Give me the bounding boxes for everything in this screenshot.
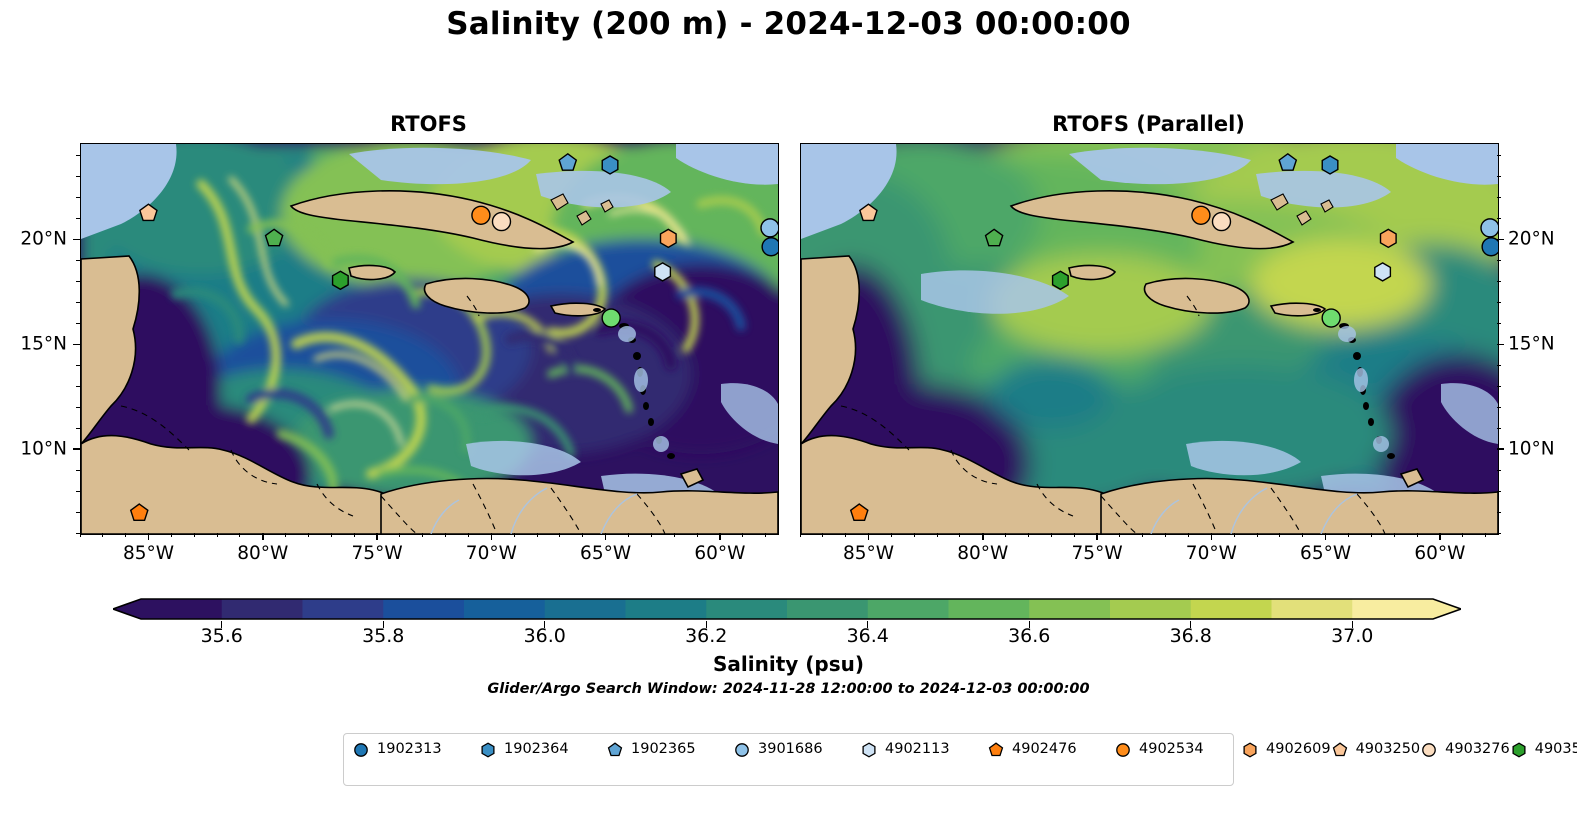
x-ticklabel: 85°W <box>843 543 894 564</box>
colorbar-band <box>1352 599 1433 619</box>
colorbar-band <box>141 599 222 619</box>
x-minor-tick <box>1119 533 1120 537</box>
x-ticklabel: 60°W <box>694 543 745 564</box>
x-minor-tick <box>582 533 583 537</box>
y-tick <box>73 344 80 345</box>
x-minor-tick <box>239 533 240 537</box>
float-marker-4903250[interactable] <box>860 204 877 220</box>
legend-entry-4902476[interactable]: 4902476 <box>987 739 1114 760</box>
x-ticklabel: 75°W <box>352 543 403 564</box>
x-minor-tick <box>1462 533 1463 537</box>
float-marker-4903250[interactable] <box>140 204 157 220</box>
colorbar-ticklabel: 35.6 <box>201 625 243 647</box>
x-minor-tick <box>468 533 469 537</box>
float-marker-4903558[interactable] <box>333 271 349 289</box>
x-minor-tick <box>331 533 332 537</box>
colorbar-extend-max <box>1433 599 1461 619</box>
y-minor-tick <box>1497 386 1501 387</box>
page-title: Salinity (200 m) - 2024-12-03 00:00:00 <box>0 6 1577 42</box>
y-minor-tick <box>76 218 80 219</box>
y-minor-tick <box>76 533 80 534</box>
float-marker-4903563[interactable] <box>986 229 1003 245</box>
legend-marker-circle-icon <box>1420 741 1438 759</box>
float-markers-rtofs-parallel[interactable] <box>801 144 1498 534</box>
legend-entry-1902364[interactable]: 1902364 <box>479 739 606 760</box>
legend-label: 4903250 <box>1356 742 1421 757</box>
y-minor-tick <box>76 260 80 261</box>
figure-canvas: Salinity (200 m) - 2024-12-03 00:00:00 R… <box>0 0 1577 827</box>
x-minor-tick <box>891 533 892 537</box>
y-minor-tick <box>1497 491 1501 492</box>
legend-marker-hexagon-icon <box>860 741 878 759</box>
colorbar-tick <box>383 621 384 628</box>
legend-entry-4903250[interactable]: 4903250 <box>1331 739 1421 760</box>
colorbar-tick <box>1190 621 1191 628</box>
y-ticklabel: 15°N <box>0 334 67 355</box>
y-minor-tick <box>1497 533 1501 534</box>
y-minor-tick <box>76 386 80 387</box>
legend-entry-1902313[interactable]: 1902313 <box>352 739 479 760</box>
float-marker-4902609[interactable] <box>661 229 677 247</box>
float-marker-3901686[interactable] <box>761 219 778 237</box>
y-ticklabel: 20°N <box>0 229 67 250</box>
x-tick <box>982 533 983 540</box>
colorbar-tick <box>867 621 868 628</box>
legend-marker-hexagon-icon <box>479 741 497 759</box>
x-tick <box>1439 533 1440 540</box>
y-minor-tick <box>1497 155 1501 156</box>
colorbar-band <box>303 599 384 619</box>
y-minor-tick <box>1497 197 1501 198</box>
colorbar-label: Salinity (psu) <box>0 652 1577 676</box>
y-tick <box>1497 344 1504 345</box>
colorbar-bands <box>113 599 1461 619</box>
x-minor-tick <box>399 533 400 537</box>
x-ticklabel: 75°W <box>1072 543 1123 564</box>
colorbar-band <box>1110 599 1191 619</box>
x-ticklabel: 70°W <box>1186 543 1237 564</box>
legend-marker-pentagon-icon <box>606 741 624 759</box>
x-minor-tick <box>914 533 915 537</box>
x-minor-tick <box>194 533 195 537</box>
colorbar-band <box>545 599 626 619</box>
x-minor-tick <box>217 533 218 537</box>
x-minor-tick <box>1142 533 1143 537</box>
colorbar-ticklabels: 35.635.836.036.236.436.636.837.0 <box>0 625 1577 651</box>
legend-label: 1902365 <box>631 742 696 757</box>
float-marker-4903276[interactable] <box>492 213 510 231</box>
colorbar-ticklabel: 37.0 <box>1331 625 1373 647</box>
y-minor-tick <box>76 197 80 198</box>
legend-label: 1902313 <box>377 742 442 757</box>
x-minor-tick <box>800 533 801 537</box>
legend-label: 1902364 <box>504 742 569 757</box>
legend-label: 4902476 <box>1012 742 1077 757</box>
y-minor-tick <box>1497 260 1501 261</box>
y-minor-tick <box>1497 512 1501 513</box>
x-minor-tick <box>1394 533 1395 537</box>
float-marker-4902113[interactable] <box>655 263 671 281</box>
float-marker-1902365[interactable] <box>1279 154 1296 170</box>
x-tick <box>605 533 606 540</box>
x-ticklabel: 80°W <box>957 543 1008 564</box>
legend-marker-circle-icon <box>733 741 751 759</box>
y-minor-tick <box>76 302 80 303</box>
legend-label: 4902534 <box>1139 742 1204 757</box>
x-minor-tick <box>1005 533 1006 537</box>
x-minor-tick <box>1257 533 1258 537</box>
float-marker-4902534[interactable] <box>1192 206 1210 224</box>
x-ticklabel: 80°W <box>237 543 288 564</box>
x-ticklabel: 85°W <box>123 543 174 564</box>
float-marker-1902313[interactable] <box>1482 238 1498 256</box>
y-minor-tick <box>76 176 80 177</box>
colorbar-band <box>464 599 545 619</box>
x-minor-tick <box>1074 533 1075 537</box>
marker-layer <box>851 154 1498 520</box>
x-minor-tick <box>354 533 355 537</box>
x-tick <box>491 533 492 540</box>
colorbar-ticklabel: 36.2 <box>685 625 727 647</box>
float-legend: 1902313190236419023653901686490211349024… <box>343 733 1234 786</box>
float-marker-4902534[interactable] <box>472 206 490 224</box>
x-minor-tick <box>1371 533 1372 537</box>
y-minor-tick <box>1497 218 1501 219</box>
colorbar-extend-min <box>113 599 141 619</box>
colorbar-ticklabel: 36.0 <box>524 625 566 647</box>
legend-marker-hexagon-icon <box>1241 741 1259 759</box>
colorbar-gradient <box>113 597 1461 621</box>
x-minor-tick <box>80 533 81 537</box>
legend-entry-4903276[interactable]: 4903276 <box>1420 739 1510 760</box>
legend-label: 4903276 <box>1445 742 1510 757</box>
y-minor-tick <box>76 281 80 282</box>
colorbar-band <box>1029 599 1110 619</box>
colorbar-band <box>868 599 949 619</box>
x-minor-tick <box>765 533 766 537</box>
colorbar-band <box>706 599 787 619</box>
y-minor-tick <box>1497 365 1501 366</box>
x-minor-tick <box>559 533 560 537</box>
y-ticklabel: 10°N <box>1508 439 1555 460</box>
x-tick <box>376 533 377 540</box>
float-marker-4903558b[interactable] <box>1322 309 1340 327</box>
float-marker-1902313[interactable] <box>762 238 778 256</box>
x-minor-tick <box>845 533 846 537</box>
y-minor-tick <box>76 365 80 366</box>
y-minor-tick <box>1497 302 1501 303</box>
y-tick <box>1497 448 1504 449</box>
float-marker-3901686[interactable] <box>1481 219 1498 237</box>
x-minor-tick <box>1348 533 1349 537</box>
x-tick <box>868 533 869 540</box>
x-minor-tick <box>125 533 126 537</box>
colorbar-tick <box>544 621 545 628</box>
x-minor-tick <box>1165 533 1166 537</box>
y-tick <box>1497 239 1504 240</box>
colorbar-band <box>1191 599 1272 619</box>
search-window-caption: Glider/Argo Search Window: 2024-11-28 12… <box>0 681 1577 697</box>
x-tick <box>1325 533 1326 540</box>
x-minor-tick <box>1302 533 1303 537</box>
y-ticklabel: 15°N <box>1508 334 1555 355</box>
colorbar-band <box>949 599 1030 619</box>
legend-marker-pentagon-icon <box>987 741 1005 759</box>
x-tick <box>1211 533 1212 540</box>
y-minor-tick <box>76 428 80 429</box>
colorbar-tick <box>1029 621 1030 628</box>
x-minor-tick <box>1188 533 1189 537</box>
x-minor-tick <box>171 533 172 537</box>
map-panel-rtofs[interactable] <box>80 143 779 535</box>
x-minor-tick <box>959 533 960 537</box>
y-ticklabel: 20°N <box>1508 229 1555 250</box>
legend-grid: 1902313190236419023653901686490211349024… <box>352 739 1577 760</box>
x-minor-tick <box>1279 533 1280 537</box>
float-marker-4903563[interactable] <box>266 229 283 245</box>
float-marker-1902364[interactable] <box>602 156 618 174</box>
float-marker-4903276[interactable] <box>1212 213 1230 231</box>
y-minor-tick <box>1497 470 1501 471</box>
legend-label: 4902609 <box>1266 742 1331 757</box>
y-minor-tick <box>76 470 80 471</box>
panel-title-rtofs-parallel: RTOFS (Parallel) <box>800 112 1497 136</box>
legend-label: 4902113 <box>885 742 950 757</box>
y-minor-tick <box>1497 407 1501 408</box>
y-minor-tick <box>76 512 80 513</box>
x-minor-tick <box>102 533 103 537</box>
float-marker-1902365[interactable] <box>559 154 576 170</box>
float-marker-4902476[interactable] <box>131 504 148 520</box>
legend-entry-4903558[interactable]: 4903558 <box>1510 739 1577 760</box>
x-minor-tick <box>674 533 675 537</box>
colorbar-tick <box>706 621 707 628</box>
x-minor-tick <box>937 533 938 537</box>
x-minor-tick <box>445 533 446 537</box>
x-minor-tick <box>1417 533 1418 537</box>
float-markers-rtofs[interactable] <box>81 144 778 534</box>
x-minor-tick <box>1028 533 1029 537</box>
x-minor-tick <box>742 533 743 537</box>
x-tick <box>148 533 149 540</box>
colorbar-tick <box>1352 621 1353 628</box>
legend-label: 4903558 <box>1535 742 1577 757</box>
colorbar[interactable] <box>113 597 1461 621</box>
x-ticklabel: 70°W <box>466 543 517 564</box>
y-minor-tick <box>1497 428 1501 429</box>
x-ticklabel: 65°W <box>1300 543 1351 564</box>
y-minor-tick <box>76 323 80 324</box>
map-panel-rtofs-parallel[interactable] <box>800 143 1499 535</box>
legend-entry-1902365[interactable]: 1902365 <box>606 739 733 760</box>
colorbar-ticklabel: 36.4 <box>847 625 889 647</box>
legend-marker-pentagon-icon <box>1331 741 1349 759</box>
colorbar-ticklabel: 36.6 <box>1008 625 1050 647</box>
legend-marker-hexagon-icon <box>1510 741 1528 759</box>
x-minor-tick <box>628 533 629 537</box>
float-marker-1902364[interactable] <box>1322 156 1338 174</box>
x-minor-tick <box>651 533 652 537</box>
x-minor-tick <box>422 533 423 537</box>
float-marker-4902609[interactable] <box>1381 229 1397 247</box>
x-tick <box>1096 533 1097 540</box>
y-minor-tick <box>1497 176 1501 177</box>
y-minor-tick <box>76 407 80 408</box>
legend-entry-4902113[interactable]: 4902113 <box>860 739 987 760</box>
y-tick <box>73 448 80 449</box>
colorbar-tick <box>221 621 222 628</box>
float-marker-4903558b[interactable] <box>602 309 620 327</box>
float-marker-4903558[interactable] <box>1053 271 1069 289</box>
x-tick <box>719 533 720 540</box>
x-tick <box>262 533 263 540</box>
y-ticklabel: 10°N <box>0 439 67 460</box>
colorbar-band <box>1272 599 1353 619</box>
x-ticklabel: 60°W <box>1414 543 1465 564</box>
legend-marker-circle-icon <box>352 741 370 759</box>
x-minor-tick <box>1051 533 1052 537</box>
y-minor-tick <box>1497 323 1501 324</box>
colorbar-ticklabel: 35.8 <box>362 625 404 647</box>
y-minor-tick <box>76 155 80 156</box>
x-ticklabel: 65°W <box>580 543 631 564</box>
colorbar-band <box>626 599 707 619</box>
x-minor-tick <box>537 533 538 537</box>
panel-title-rtofs: RTOFS <box>80 112 777 136</box>
legend-entry-3901686[interactable]: 3901686 <box>733 739 860 760</box>
x-minor-tick <box>1485 533 1486 537</box>
float-marker-4902476[interactable] <box>851 504 868 520</box>
colorbar-band <box>222 599 303 619</box>
x-minor-tick <box>822 533 823 537</box>
colorbar-ticklabel: 36.8 <box>1170 625 1212 647</box>
legend-entry-4902609[interactable]: 4902609 <box>1241 739 1331 760</box>
x-minor-tick <box>1234 533 1235 537</box>
x-minor-tick <box>514 533 515 537</box>
y-minor-tick <box>76 491 80 492</box>
marker-layer <box>131 154 778 520</box>
x-minor-tick <box>697 533 698 537</box>
legend-marker-circle-icon <box>1114 741 1132 759</box>
colorbar-band <box>383 599 464 619</box>
y-tick <box>73 239 80 240</box>
y-minor-tick <box>1497 281 1501 282</box>
x-minor-tick <box>308 533 309 537</box>
float-marker-4902113[interactable] <box>1375 263 1391 281</box>
legend-entry-4902534[interactable]: 4902534 <box>1114 739 1241 760</box>
x-minor-tick <box>285 533 286 537</box>
legend-label: 3901686 <box>758 742 823 757</box>
colorbar-band <box>787 599 868 619</box>
